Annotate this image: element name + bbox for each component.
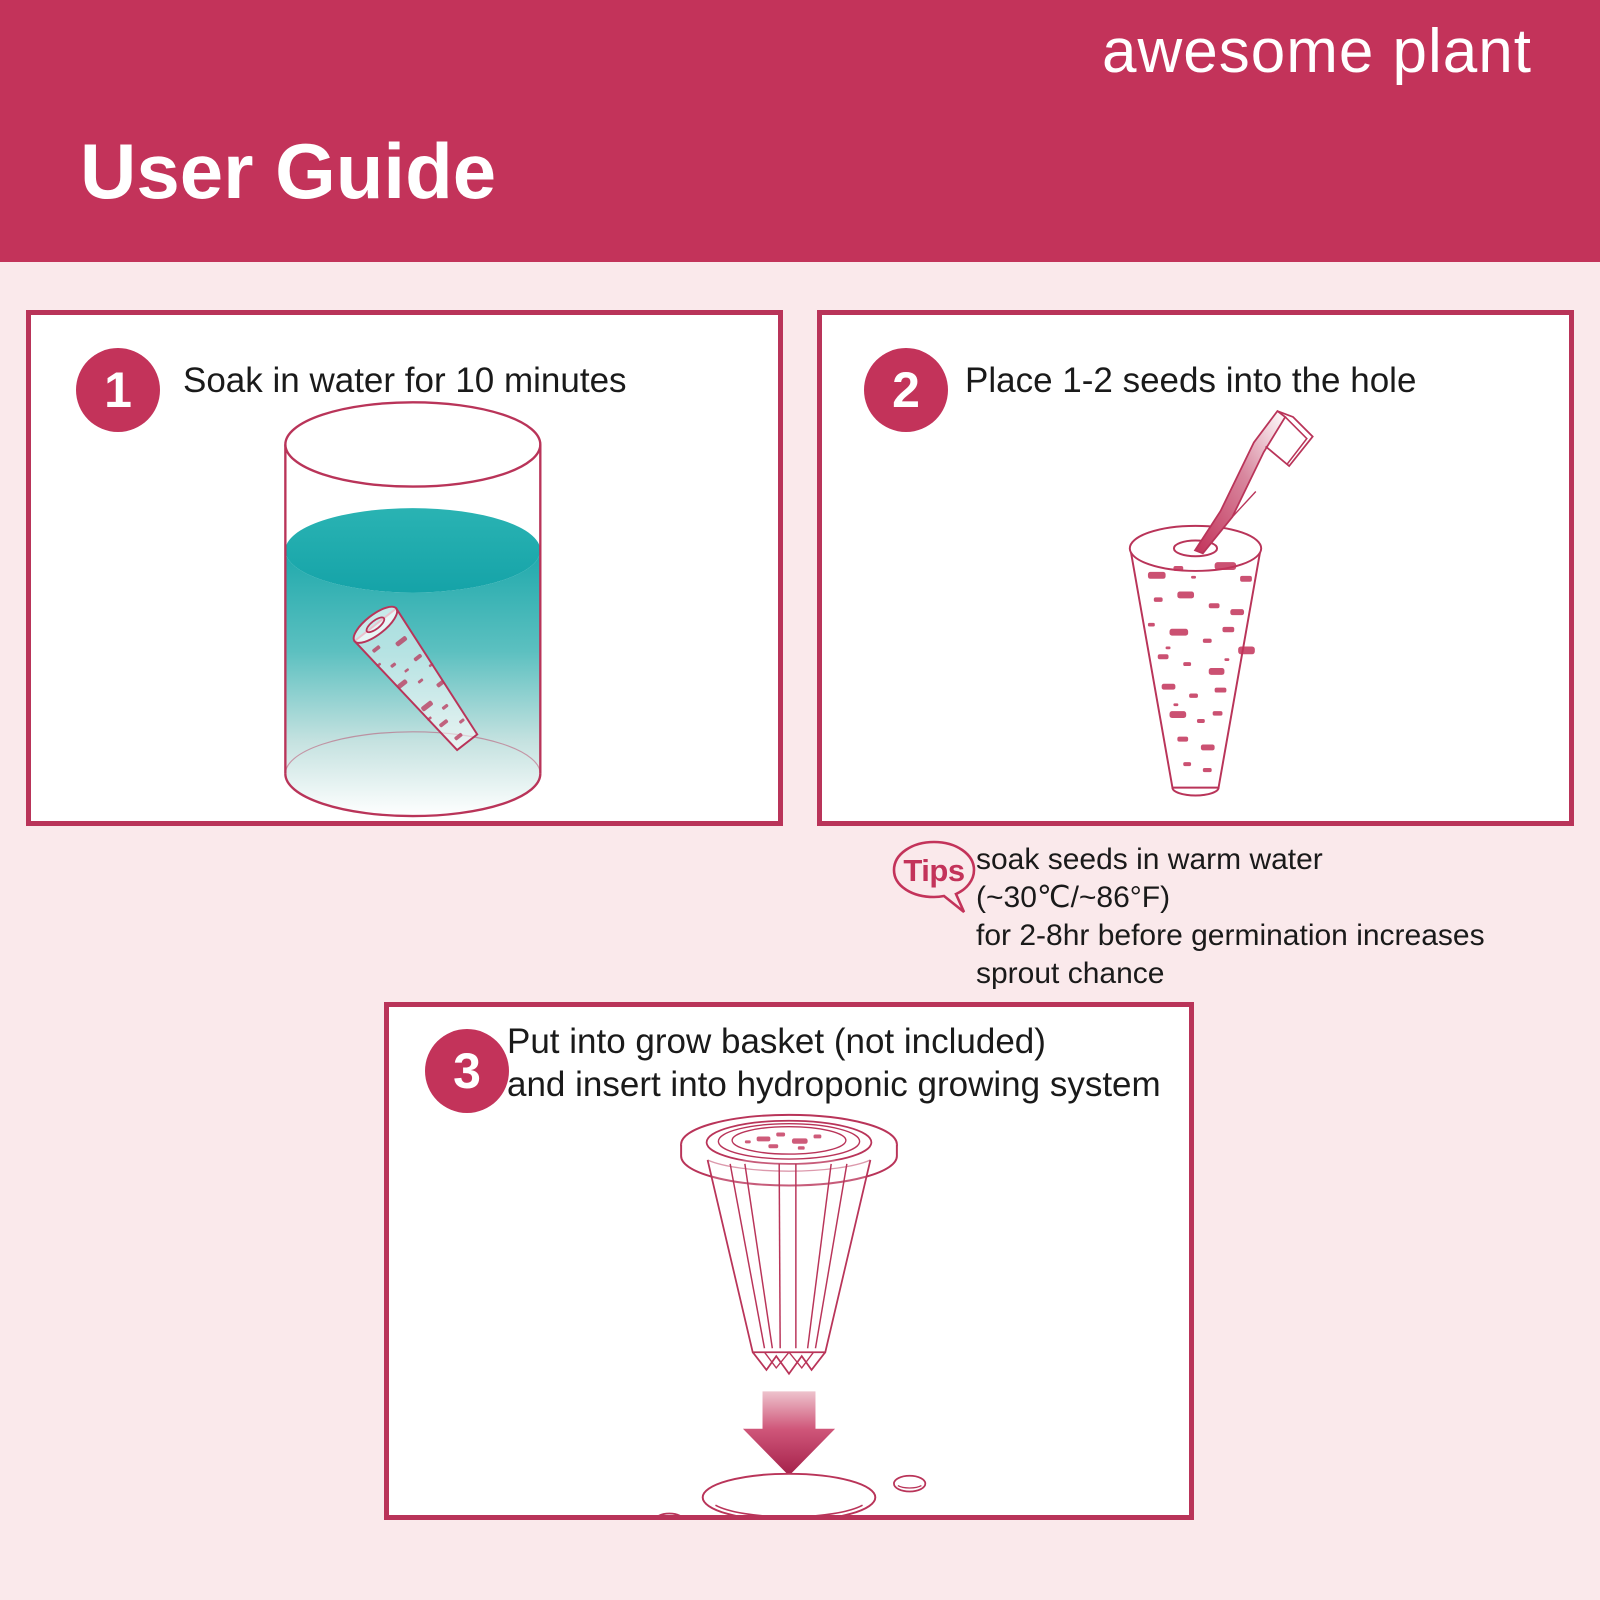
brand-logo-text: awesome plant: [1102, 16, 1532, 87]
step-instruction-1: Soak in water for 10 minutes: [183, 360, 627, 403]
step-number-badge-3: 3: [425, 1029, 509, 1113]
step-number-badge-1: 1: [76, 348, 160, 432]
tips-callout: Tips soak seeds in warm water (~30℃/~86°…: [888, 836, 1508, 956]
page-title: User Guide: [80, 126, 496, 217]
page-header: awesome plant User Guide: [0, 0, 1600, 262]
step-number-badge-2: 2: [864, 348, 948, 432]
step-card-2: 2 Place 1-2 seeds into the hole: [817, 310, 1574, 826]
tips-label: Tips: [900, 853, 968, 889]
step-instruction-3: Put into grow basket (not included) and …: [507, 1021, 1161, 1106]
tips-text: soak seeds in warm water (~30℃/~86°F) fo…: [976, 841, 1516, 993]
step-card-3: 3 Put into grow basket (not included) an…: [384, 1002, 1194, 1520]
step-instruction-2: Place 1-2 seeds into the hole: [965, 360, 1416, 403]
step-card-1: 1 Soak in water for 10 minutes: [26, 310, 783, 826]
